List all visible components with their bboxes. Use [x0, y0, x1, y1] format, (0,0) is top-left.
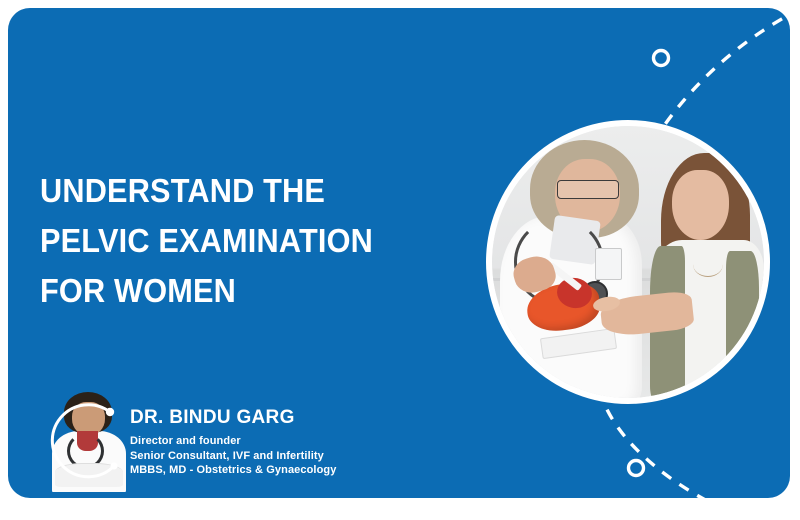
patient-vest-right	[726, 251, 759, 392]
avatar	[50, 390, 128, 492]
doctor-glasses	[557, 180, 619, 198]
bottom-dashed-arc-path	[600, 390, 768, 498]
author-block: DR. BINDU GARG Director and founder Seni…	[38, 388, 418, 498]
patient-face	[672, 170, 729, 241]
headline-line-3: FOR WOMEN	[40, 266, 421, 316]
author-credential-1: Director and founder	[130, 434, 420, 449]
banner-card: UNDERSTAND THE PELVIC EXAMINATION FOR WO…	[8, 8, 790, 498]
author-name: DR. BINDU GARG	[130, 406, 420, 430]
headline: UNDERSTAND THE PELVIC EXAMINATION FOR WO…	[40, 166, 450, 316]
avatar-folded-arms	[55, 463, 124, 486]
headline-line-2: PELVIC EXAMINATION	[40, 216, 421, 266]
hero-photo-frame	[486, 120, 770, 404]
patient-necklace	[693, 251, 723, 276]
avatar-container	[38, 388, 138, 498]
top-arc-node-icon	[654, 51, 669, 66]
doctor-id-badge	[595, 248, 621, 280]
headline-line-1: UNDERSTAND THE	[40, 166, 421, 216]
author-text: DR. BINDU GARG Director and founder Seni…	[130, 406, 420, 478]
banner-root: UNDERSTAND THE PELVIC EXAMINATION FOR WO…	[0, 0, 800, 520]
author-credential-3: MBBS, MD - Obstetrics & Gynaecology	[130, 463, 420, 478]
bottom-arc-node-icon	[629, 461, 644, 476]
author-credential-2: Senior Consultant, IVF and Infertility	[130, 449, 420, 464]
author-credentials: Director and founder Senior Consultant, …	[130, 434, 420, 478]
hero-photo	[492, 126, 764, 398]
